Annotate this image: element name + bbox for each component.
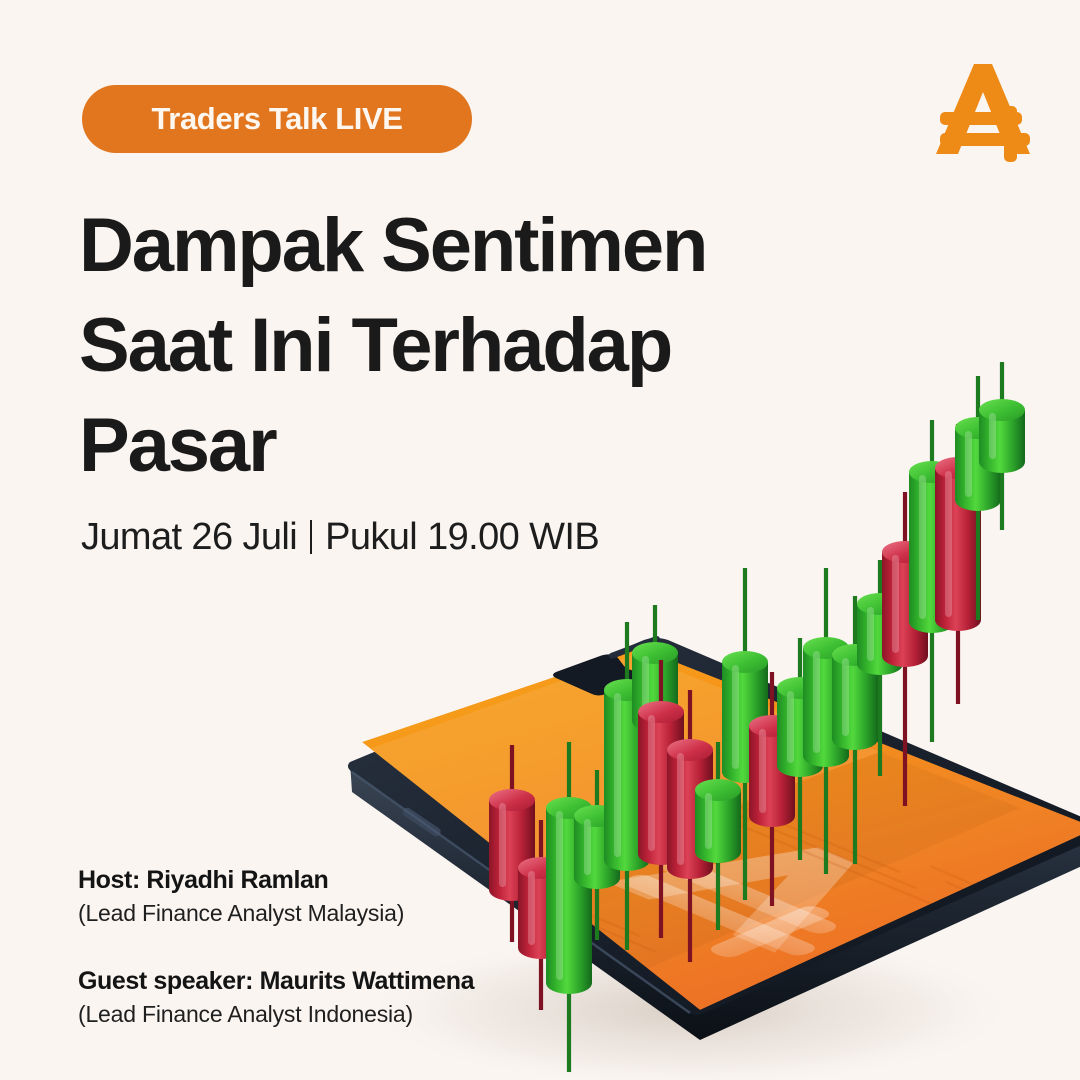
schedule-divider (310, 520, 312, 554)
speaker-host: Host: Riyadhi Ramlan (Lead Finance Analy… (78, 866, 598, 927)
poster-canvas: Traders Talk LIVE Dampak Sentimen Saat I… (0, 0, 1080, 1080)
poster-content: Traders Talk LIVE Dampak Sentimen Saat I… (0, 0, 1080, 1080)
speaker-host-role: (Lead Finance Analyst Malaysia) (78, 900, 598, 927)
title-line-1: Dampak Sentimen (79, 196, 839, 296)
schedule-time: Pukul 19.00 WIB (325, 516, 599, 558)
brand-logo[interactable] (930, 58, 1038, 162)
page-title: Dampak Sentimen Saat Ini Terhadap Pasar (79, 196, 839, 496)
speaker-guest: Guest speaker: Maurits Wattimena (Lead F… (78, 967, 598, 1028)
title-line-3: Pasar (79, 396, 839, 496)
brand-a-mark-icon (930, 58, 1038, 162)
speaker-guest-name: Guest speaker: Maurits Wattimena (78, 967, 598, 996)
schedule-line: Jumat 26 JuliPukul 19.00 WIB (81, 516, 599, 559)
speaker-guest-role: (Lead Finance Analyst Indonesia) (78, 1001, 598, 1028)
speaker-host-name: Host: Riyadhi Ramlan (78, 866, 598, 895)
schedule-date: Jumat 26 Juli (81, 516, 297, 558)
live-badge[interactable]: Traders Talk LIVE (82, 85, 472, 153)
title-line-2: Saat Ini Terhadap (79, 296, 839, 396)
speaker-list: Host: Riyadhi Ramlan (Lead Finance Analy… (78, 866, 598, 1028)
live-badge-label: Traders Talk LIVE (151, 101, 402, 137)
